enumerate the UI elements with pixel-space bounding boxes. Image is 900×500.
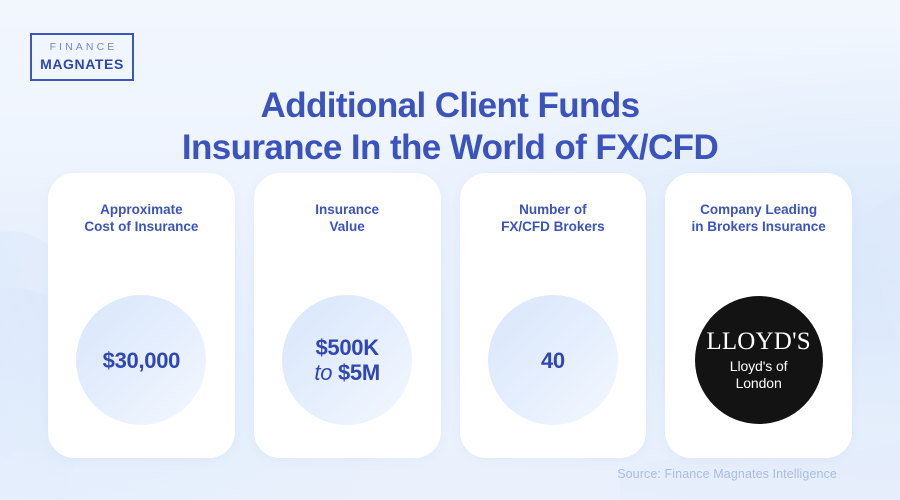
page-title: Additional Client Funds Insurance In the… <box>0 85 900 169</box>
stat-card-number-of-brokers: Number of FX/CFD Brokers 40 <box>460 173 647 458</box>
card-header: Insurance Value <box>264 201 431 235</box>
card-header-line-1: Approximate <box>58 201 225 218</box>
card-header-line-2: Value <box>264 218 431 235</box>
stat-value: $500K to $5M <box>314 335 379 385</box>
card-header-line-2: FX/CFD Brokers <box>470 218 637 235</box>
card-header-line-1: Company Leading <box>675 201 842 218</box>
stat-value-line-1: 40 <box>541 348 565 373</box>
title-line-2: Insurance In the World of FX/CFD <box>0 127 900 169</box>
card-header-line-2: in Brokers Insurance <box>675 218 842 235</box>
lloyds-wordmark: LLOYD'S <box>706 329 811 355</box>
stat-value-line-1: $500K <box>314 335 379 360</box>
card-header: Approximate Cost of Insurance <box>58 201 225 235</box>
infographic-canvas: FINANCE MAGNATES Additional Client Funds… <box>0 0 900 500</box>
title-line-1: Additional Client Funds <box>0 85 900 127</box>
stat-value-range-upper: $5M <box>338 360 380 385</box>
stat-circle: $30,000 <box>76 295 206 425</box>
stat-card-cost-of-insurance: Approximate Cost of Insurance $30,000 <box>48 173 235 458</box>
card-header-line-1: Number of <box>470 201 637 218</box>
stat-circle: $500K to $5M <box>282 295 412 425</box>
stat-card-leading-company: Company Leading in Brokers Insurance LLO… <box>665 173 852 458</box>
card-header: Company Leading in Brokers Insurance <box>675 201 842 235</box>
stat-card-insurance-value: Insurance Value $500K to $5M <box>254 173 441 458</box>
logo-word-magnates: MAGNATES <box>40 56 124 73</box>
stat-circle: 40 <box>488 295 618 425</box>
finance-magnates-logo: FINANCE MAGNATES <box>30 33 134 81</box>
stat-value: $30,000 <box>103 348 180 373</box>
lloyds-subtitle-line-2: London <box>730 375 788 392</box>
stat-value-line-2: to $5M <box>314 360 379 385</box>
lloyds-subtitle: Lloyd's of London <box>730 358 788 391</box>
lloyds-subtitle-line-1: Lloyd's of <box>730 358 788 375</box>
stat-value: 40 <box>541 348 565 373</box>
card-header-line-2: Cost of Insurance <box>58 218 225 235</box>
stat-value-range-word: to <box>314 360 332 385</box>
logo-word-finance: FINANCE <box>47 41 118 54</box>
source-attribution: Source: Finance Magnates Intelligence <box>617 467 837 481</box>
lloyds-logo-badge: LLOYD'S Lloyd's of London <box>695 296 823 424</box>
stat-card-row: Approximate Cost of Insurance $30,000 In… <box>48 173 852 458</box>
card-header: Number of FX/CFD Brokers <box>470 201 637 235</box>
card-header-line-1: Insurance <box>264 201 431 218</box>
stat-value-line-1: $30,000 <box>103 348 180 373</box>
